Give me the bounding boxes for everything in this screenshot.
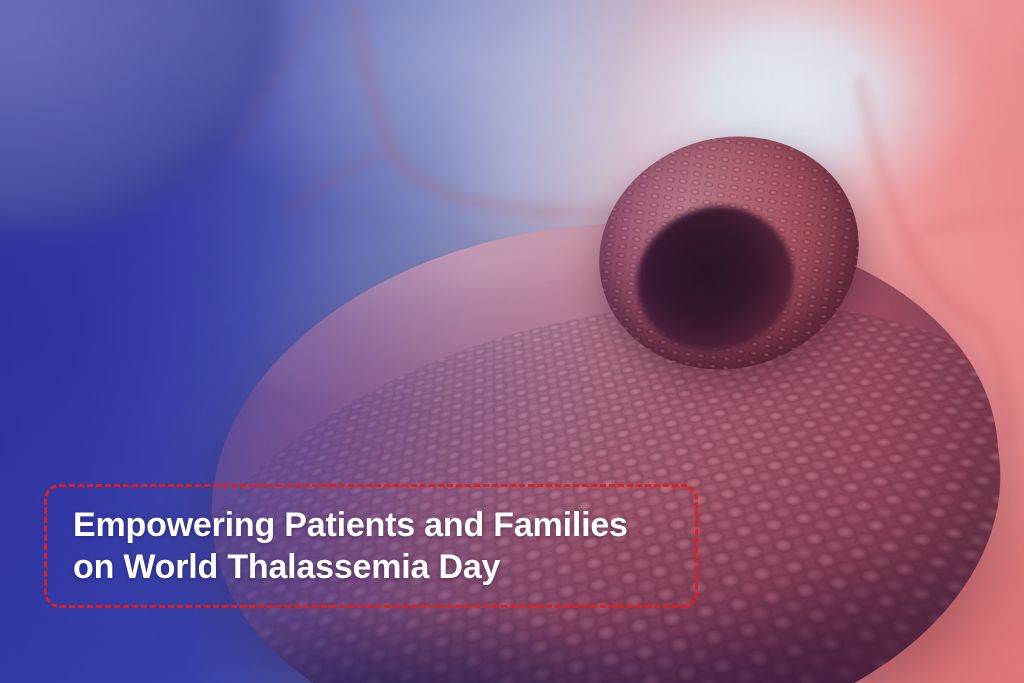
thalassemia-day-banner: Empowering Patients and Families on Worl… (0, 0, 1024, 683)
headline-callout-box: Empowering Patients and Families on Worl… (44, 484, 698, 608)
page-title: Empowering Patients and Families on Worl… (73, 504, 695, 588)
